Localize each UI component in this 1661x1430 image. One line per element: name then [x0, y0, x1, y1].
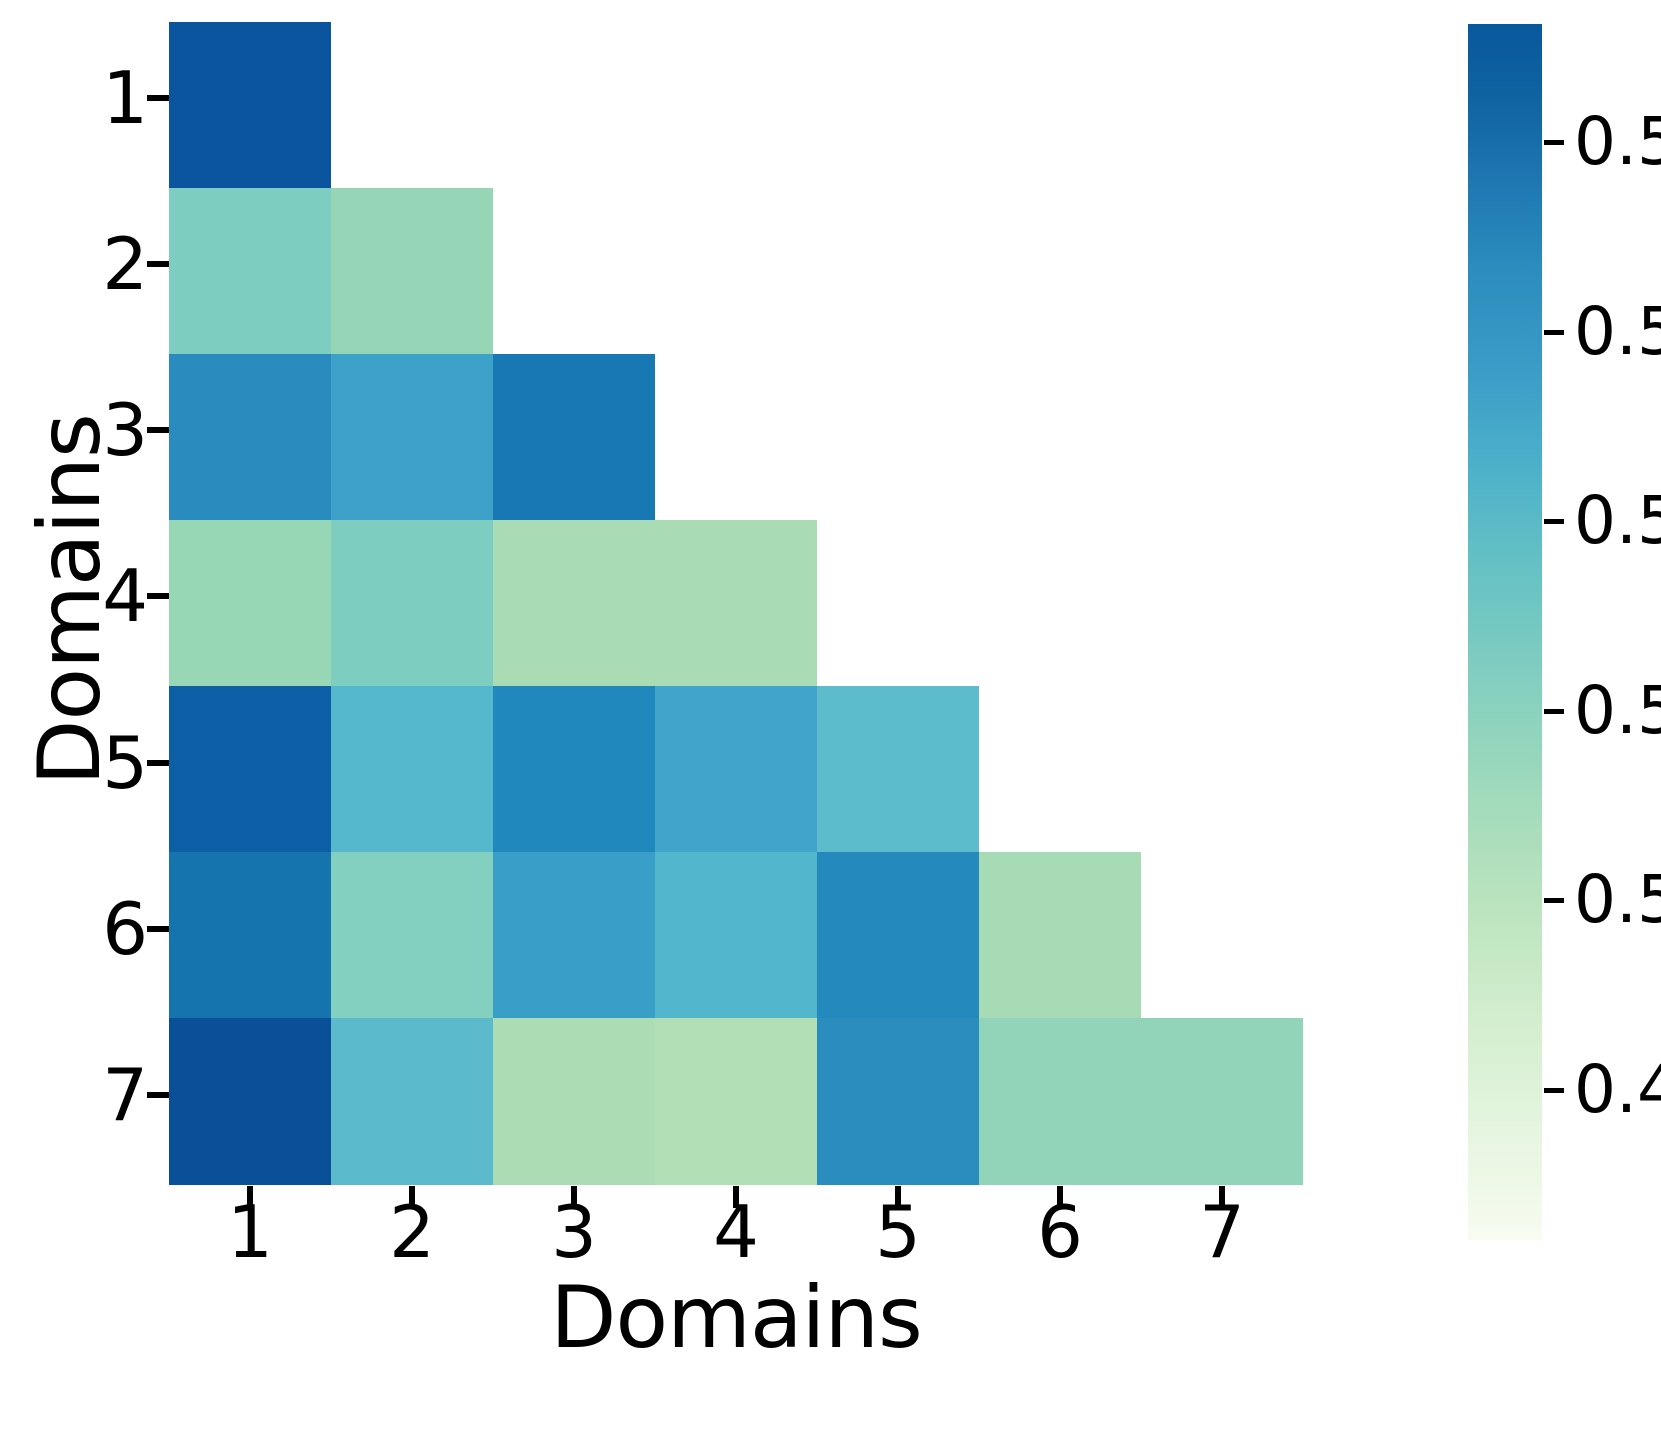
heatmap-cell-r7c7: [1141, 1018, 1303, 1185]
colorbar-tick-mark-050: [1544, 898, 1564, 903]
heatmap-cell-r6c1: [169, 852, 331, 1018]
colorbar-tick-mark-056: [1544, 330, 1564, 335]
heatmap-cell-r6c2: [331, 852, 493, 1018]
x-tick-label-3: 3: [529, 1196, 619, 1268]
colorbar-tick-mark-054: [1544, 519, 1564, 524]
heatmap-cell-r4c4: [655, 520, 817, 686]
x-tick-label-1: 1: [205, 1196, 295, 1268]
heatmap-figure: Domains 1 2 3 4 5 6 7: [0, 0, 1661, 1430]
y-tick-mark-6: [147, 926, 169, 932]
heatmap-cell-r5c5: [817, 686, 979, 852]
x-tick-label-7: 7: [1177, 1196, 1267, 1268]
colorbar-tick-label-058: 0.58: [1574, 109, 1661, 175]
heatmap-cell-r1c1: [169, 22, 331, 188]
colorbar-tick-mark-048: [1544, 1088, 1564, 1093]
colorbar-tick-label-050: 0.50: [1574, 867, 1661, 933]
y-tick-mark-7: [147, 1092, 169, 1098]
heatmap-cell-r4c1: [169, 520, 331, 686]
y-tick-label-2: 2: [58, 228, 148, 300]
heatmap-cell-r7c4: [655, 1018, 817, 1185]
colorbar-gradient: [1468, 24, 1542, 1240]
x-tick-label-2: 2: [367, 1196, 457, 1268]
heatmap-cell-r5c2: [331, 686, 493, 852]
x-tick-label-4: 4: [691, 1196, 781, 1268]
heatmap-cell-r7c5: [817, 1018, 979, 1185]
x-axis-label: Domains: [169, 1268, 1303, 1368]
colorbar-tick-label-052: 0.52: [1574, 678, 1661, 744]
y-tick-label-5: 5: [58, 727, 148, 799]
heatmap-cell-r2c2: [331, 188, 493, 354]
y-tick-label-7: 7: [58, 1059, 148, 1131]
heatmap-cell-r3c3: [493, 354, 655, 520]
heatmap-cell-r7c2: [331, 1018, 493, 1185]
heatmap-cell-r4c3: [493, 520, 655, 686]
y-tick-label-4: 4: [58, 560, 148, 632]
heatmap-grid: [169, 22, 1303, 1185]
y-tick-label-6: 6: [58, 893, 148, 965]
y-tick-label-1: 1: [58, 62, 148, 134]
heatmap-cell-r7c3: [493, 1018, 655, 1185]
colorbar-tick-mark-052: [1544, 709, 1564, 714]
y-tick-mark-2: [147, 261, 169, 267]
y-tick-mark-5: [147, 760, 169, 766]
heatmap-cell-r7c1: [169, 1018, 331, 1185]
heatmap-cell-r4c2: [331, 520, 493, 686]
colorbar-tick-label-054: 0.54: [1574, 488, 1661, 554]
heatmap-cell-r6c3: [493, 852, 655, 1018]
heatmap-cell-r5c3: [493, 686, 655, 852]
heatmap-cell-r2c1: [169, 188, 331, 354]
y-tick-mark-4: [147, 593, 169, 599]
heatmap-cell-r6c6: [979, 852, 1141, 1018]
heatmap-cell-r6c4: [655, 852, 817, 1018]
heatmap-cell-r5c1: [169, 686, 331, 852]
heatmap-cell-r5c4: [655, 686, 817, 852]
y-tick-label-3: 3: [58, 394, 148, 466]
heatmap-cell-r7c6: [979, 1018, 1141, 1185]
colorbar-tick-label-048: 0.48: [1574, 1057, 1661, 1123]
heatmap-cell-r3c2: [331, 354, 493, 520]
x-tick-label-5: 5: [853, 1196, 943, 1268]
colorbar-tick-label-056: 0.56: [1574, 299, 1661, 365]
heatmap-cell-r6c5: [817, 852, 979, 1018]
heatmap-cell-r3c1: [169, 354, 331, 520]
y-tick-mark-3: [147, 427, 169, 433]
colorbar-tick-mark-058: [1544, 140, 1564, 145]
y-tick-mark-1: [147, 95, 169, 101]
x-tick-label-6: 6: [1015, 1196, 1105, 1268]
